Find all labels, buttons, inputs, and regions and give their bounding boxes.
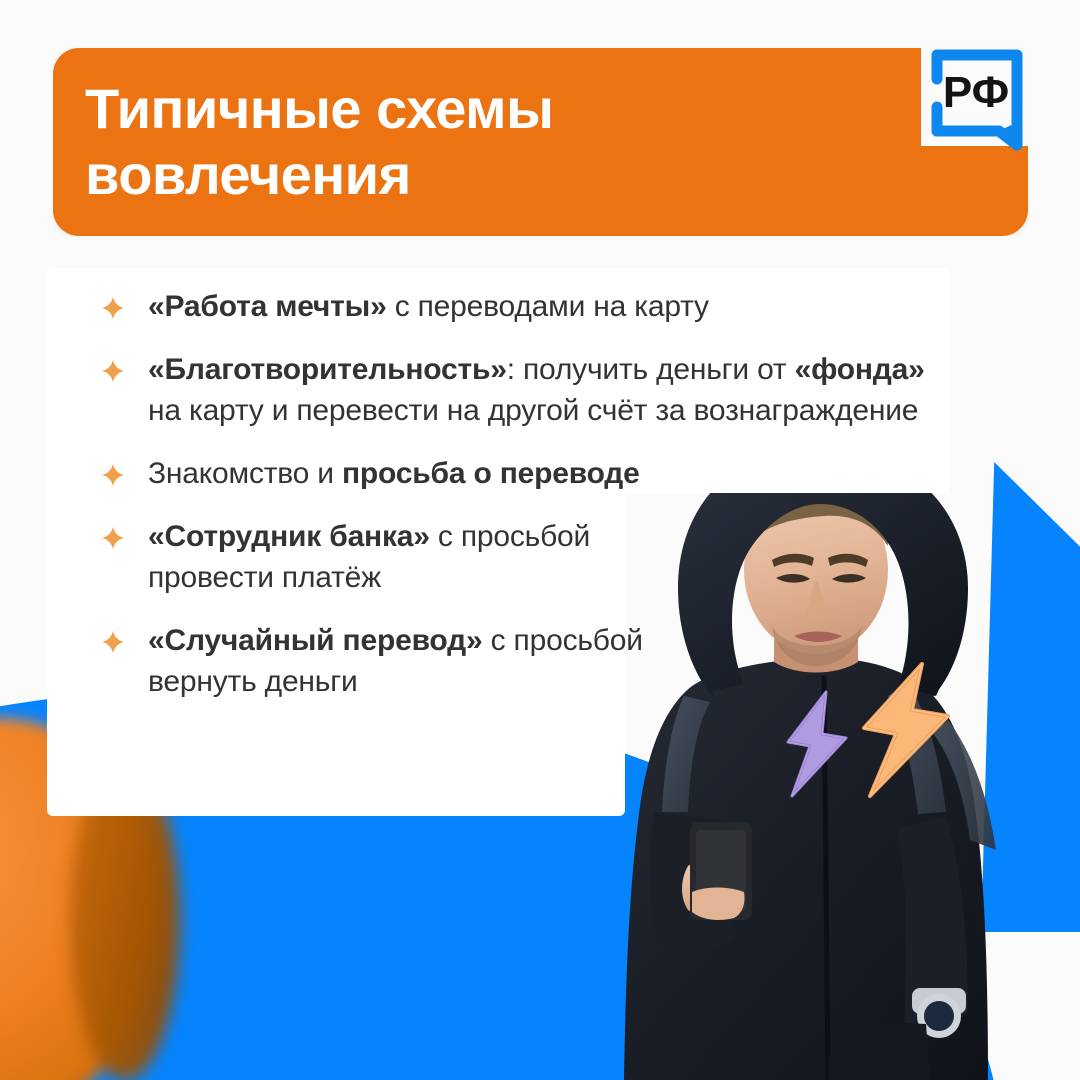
list-item-label: «Случайный перевод» с просьбой вернуть д… bbox=[148, 624, 643, 698]
list-item: «Благотворительность»: получить деньги о… bbox=[96, 349, 948, 431]
page-title: Типичные схемы вовлечения bbox=[85, 76, 845, 208]
diamond-sparkle-icon bbox=[102, 297, 124, 319]
scheme-list: «Работа мечты» с переводами на карту«Бла… bbox=[96, 286, 926, 702]
list-item-label: Знакомство и просьба о переводе bbox=[148, 457, 640, 490]
list-item-label: «Работа мечты» с переводами на карту bbox=[148, 290, 709, 323]
header-notch-corner bbox=[946, 168, 1004, 226]
wristwatch-dial bbox=[924, 1001, 954, 1031]
infographic-poster: «Работа мечты» с переводами на карту«Бла… bbox=[0, 0, 1080, 1080]
list-item-label: «Благотворительность»: получить деньги о… bbox=[148, 353, 925, 427]
obyasnyaem-rf-logo: РФ bbox=[921, 45, 1031, 163]
diamond-sparkle-icon bbox=[102, 360, 124, 382]
logo-letters: РФ bbox=[943, 68, 1009, 117]
lightning-bolt-purple-icon bbox=[782, 690, 852, 798]
list-item: «Сотрудник банка» с просьбой провести пл… bbox=[96, 516, 668, 598]
list-item: «Работа мечты» с переводами на карту bbox=[96, 286, 938, 327]
list-item-label: «Сотрудник банка» с просьбой провести пл… bbox=[148, 520, 590, 594]
list-item: Знакомство и просьба о переводе bbox=[96, 453, 668, 494]
diamond-sparkle-icon bbox=[102, 631, 124, 653]
fingers bbox=[692, 888, 745, 921]
trousers bbox=[828, 1020, 930, 1080]
diamond-sparkle-icon bbox=[102, 464, 124, 486]
list-item: «Случайный перевод» с просьбой вернуть д… bbox=[96, 620, 668, 702]
diamond-sparkle-icon bbox=[102, 527, 124, 549]
